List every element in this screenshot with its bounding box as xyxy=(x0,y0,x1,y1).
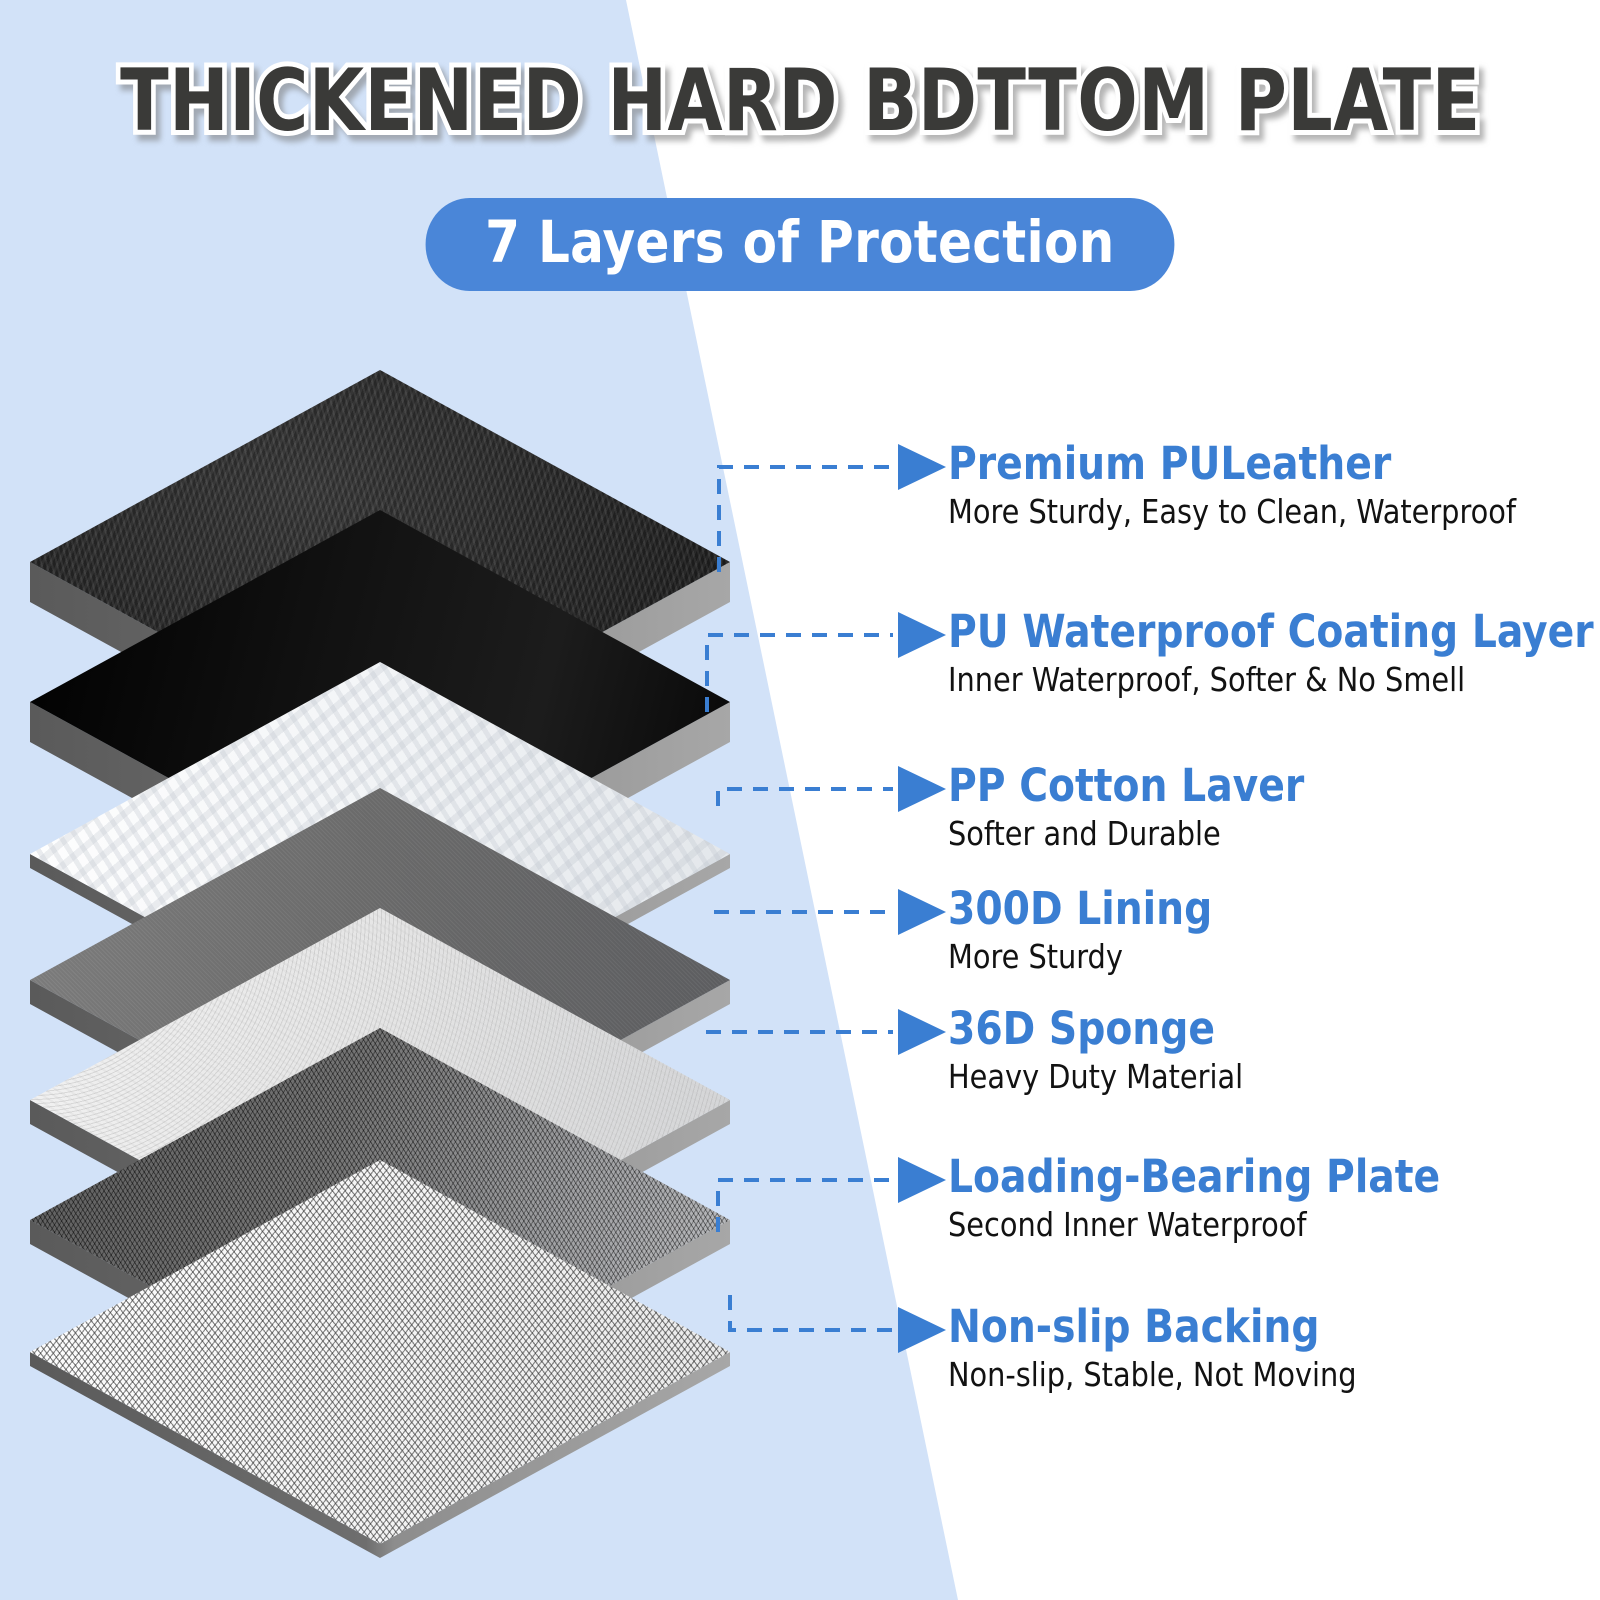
layer-face-7 xyxy=(30,1160,730,1560)
label-title-1: Premium PULeather xyxy=(948,441,1516,488)
label-subtitle-1: More Sturdy, Easy to Clean, Waterproof xyxy=(948,494,1516,531)
label-title-2: PU Waterproof Coating Layer xyxy=(948,609,1594,656)
badge-container: 7 Layers of Protection xyxy=(0,198,1600,291)
label-row-1: Premium PULeather More Sturdy, Easy to C… xyxy=(948,441,1534,531)
label-row-3: PP Cotton Laver Softer and Durable xyxy=(948,763,1315,853)
label-subtitle-3: Softer and Durable xyxy=(948,816,1304,853)
label-title-7: Non-slip Backing xyxy=(948,1304,1357,1351)
label-row-5: 36D Sponge Heavy Duty Material xyxy=(948,1006,1252,1096)
layer-swatch-7-non-slip-backing xyxy=(30,1160,730,1560)
exploded-layer-stack xyxy=(0,360,760,1430)
page-title: THICKENED HARD BDTTOM PLATE xyxy=(120,58,1481,144)
label-row-6: Loading-Bearing Plate Second Inner Water… xyxy=(948,1154,1455,1244)
label-title-3: PP Cotton Laver xyxy=(948,763,1304,810)
label-row-7: Non-slip Backing Non-slip, Stable, Not M… xyxy=(948,1304,1369,1394)
label-subtitle-5: Heavy Duty Material xyxy=(948,1059,1243,1096)
infographic-canvas: THICKENED HARD BDTTOM PLATE 7 Layers of … xyxy=(0,0,1600,1600)
label-row-2: PU Waterproof Coating Layer Inner Waterp… xyxy=(948,609,1600,699)
label-subtitle-6: Second Inner Waterproof xyxy=(948,1207,1440,1244)
label-title-4: 300D Lining xyxy=(948,886,1212,933)
label-subtitle-7: Non-slip, Stable, Not Moving xyxy=(948,1357,1357,1394)
label-subtitle-4: More Sturdy xyxy=(948,939,1212,976)
layers-badge: 7 Layers of Protection xyxy=(426,198,1175,291)
page-title-container: THICKENED HARD BDTTOM PLATE xyxy=(0,58,1600,144)
label-title-5: 36D Sponge xyxy=(948,1006,1243,1053)
label-subtitle-2: Inner Waterproof, Softer & No Smell xyxy=(948,662,1594,699)
label-row-4: 300D Lining More Sturdy xyxy=(948,886,1220,976)
label-title-6: Loading-Bearing Plate xyxy=(948,1154,1440,1201)
